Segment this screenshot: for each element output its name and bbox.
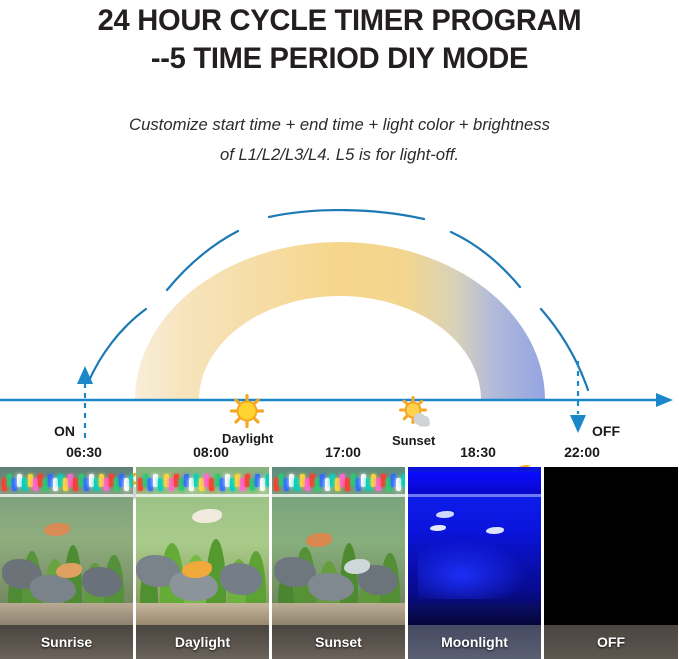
led-dot [345, 478, 350, 491]
label-daylight: Daylight [222, 431, 273, 446]
led-dot [266, 474, 270, 487]
led-dot [174, 474, 179, 487]
led-dot [260, 478, 265, 491]
led-dot [130, 474, 134, 487]
diagram-svg [0, 185, 679, 465]
photo-caption-sunset: Sunset [272, 625, 405, 659]
subtitle-line-1: Customize start time + end time + light … [7, 110, 672, 140]
led-bar [0, 472, 133, 494]
sun-icon [230, 394, 264, 428]
led-dot [305, 478, 310, 491]
led-dot [396, 478, 401, 491]
time-label-0: 06:30 [66, 444, 102, 460]
light-spectrum-arc [135, 242, 545, 400]
photo-panel-sunset: Sunset [272, 467, 405, 659]
led-dot [84, 478, 89, 491]
led-dot [124, 478, 129, 491]
led-dot [356, 478, 361, 491]
led-dot [310, 474, 315, 487]
off-marker [570, 361, 586, 433]
led-dot [73, 478, 78, 491]
cycle-diagram: Sunrise Daylight Sunset Moonlight [0, 185, 679, 465]
led-dot [79, 474, 84, 487]
led-dot [164, 474, 169, 487]
infographic-root: 24 HOUR CYCLE TIMER PROGRAM --5 TIME PER… [0, 0, 679, 659]
led-dot [215, 474, 220, 487]
led-dot [294, 478, 299, 491]
led-dot [300, 474, 305, 487]
led-dot [89, 474, 94, 487]
subtitle-line-2: of L1/L2/L3/L4. L5 is for light-off. [7, 140, 672, 170]
photo-caption-moonlight: Moonlight [408, 625, 541, 659]
timeline-axis [0, 393, 673, 407]
led-dot [38, 474, 43, 487]
led-dot [225, 474, 230, 487]
photo-panel-moonlight: Moonlight [408, 467, 541, 659]
subtitle-block: Customize start time + end time + light … [0, 110, 679, 170]
on-label: ON [54, 423, 75, 439]
led-dot [158, 478, 163, 491]
photo-caption-off: OFF [544, 625, 678, 659]
time-label-4: 22:00 [564, 444, 600, 460]
time-label-3: 18:30 [460, 444, 496, 460]
title-line-1: 24 HOUR CYCLE TIMER PROGRAM [10, 2, 669, 40]
title-block: 24 HOUR CYCLE TIMER PROGRAM --5 TIME PER… [0, 2, 679, 78]
time-label-2: 17:00 [325, 444, 361, 460]
led-dot [209, 478, 214, 491]
off-label: OFF [592, 423, 620, 439]
led-dot [28, 474, 33, 487]
photo-panel-sunrise: Sunrise [0, 467, 133, 659]
photo-panel-daylight: Daylight [136, 467, 269, 659]
time-label-1: 08:00 [193, 444, 229, 460]
led-bar [136, 472, 269, 494]
led-dot [351, 474, 356, 487]
led-bar [272, 472, 405, 494]
led-dot [402, 474, 406, 487]
label-sunset: Sunset [392, 433, 435, 448]
photo-strip: Sunrise [0, 467, 679, 659]
led-dot [22, 478, 27, 491]
photo-caption-sunrise: Sunrise [0, 625, 133, 659]
led-dot [33, 478, 38, 491]
photo-caption-daylight: Daylight [136, 625, 269, 659]
led-dot [361, 474, 366, 487]
sunset-icon [399, 396, 433, 430]
led-dot [169, 478, 174, 491]
led-dot [220, 478, 225, 491]
photo-panel-off: OFF [544, 467, 678, 659]
title-line-2: --5 TIME PERIOD DIY MODE [10, 40, 669, 78]
